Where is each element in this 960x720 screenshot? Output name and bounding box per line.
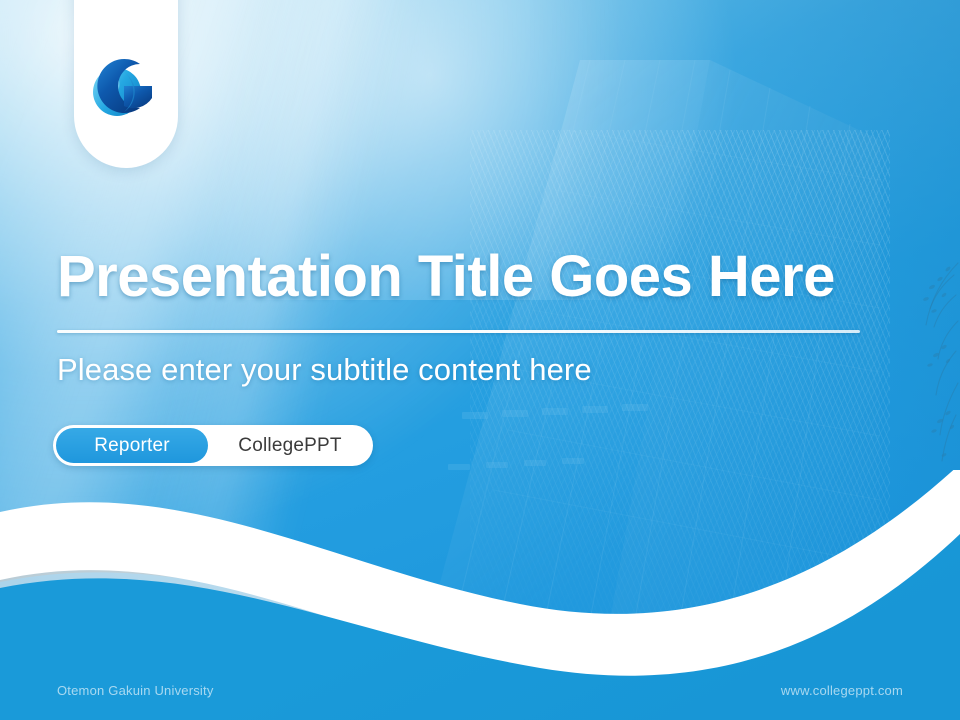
page-subtitle: Please enter your subtitle content here [57,352,592,388]
footer-website[interactable]: www.collegeppt.com [781,683,903,698]
reporter-label: Reporter [56,428,208,463]
reporter-name: CollegePPT [211,425,373,466]
presentation-slide: Presentation Title Goes Here Please ente… [0,0,960,720]
page-title: Presentation Title Goes Here [57,246,887,309]
logo-tab [74,0,178,168]
reporter-pill[interactable]: Reporter CollegePPT [53,425,373,466]
university-logo-icon [84,42,168,126]
footer-organization: Otemon Gakuin University [57,683,214,698]
title-divider [57,330,860,333]
